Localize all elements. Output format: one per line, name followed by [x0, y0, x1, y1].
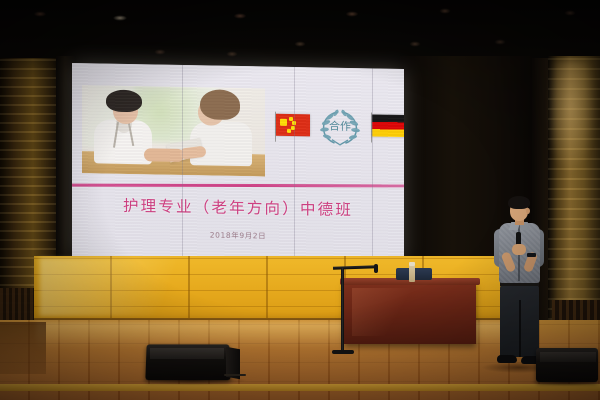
- photo-elder-hair: [200, 89, 240, 120]
- flag-germany-icon: [372, 114, 404, 137]
- water-bottle-cap: [409, 262, 415, 266]
- laurel-wreath-icon: 合作: [316, 105, 364, 148]
- screen-seam-3: [372, 68, 373, 262]
- presenter-ear: [526, 208, 530, 214]
- floor-shadow-left: [0, 322, 46, 374]
- screen-seam-2: [294, 67, 295, 261]
- presenter-shoe-left: [497, 355, 517, 363]
- microphone-stand-base: [332, 350, 354, 354]
- floor-front-strip: [0, 384, 600, 391]
- water-bottle: [409, 265, 415, 282]
- screen-seam-1: [182, 65, 183, 259]
- stage-monitor-left-grille: [150, 348, 224, 359]
- right-wall-light-glow: [550, 62, 596, 172]
- flag-china-icon: [276, 114, 310, 137]
- microphone-stand-pole: [341, 268, 344, 352]
- lectern-highlight: [352, 288, 412, 336]
- photo-caregiver-hands: [144, 148, 184, 162]
- photo-caregiver-hair: [106, 90, 142, 113]
- presenter-wristwatch: [527, 253, 536, 257]
- backwall-highlight: [40, 258, 220, 316]
- cooperation-emblem: 合作: [316, 105, 364, 148]
- boom-microphone-head: [374, 264, 378, 273]
- presentation-slide: 合作 护理专业（老年方向）中德班 2018年9月2日: [72, 63, 404, 263]
- auditorium-scene: 合作 护理专业（老年方向）中德班 2018年9月2日: [0, 0, 600, 400]
- presenter-hands: [512, 244, 526, 255]
- stage-monitor-left-cable: [224, 374, 246, 376]
- stage-monitor-right-grille: [540, 352, 596, 362]
- emblem-text: 合作: [329, 119, 351, 133]
- slide-date: 2018年9月2日: [72, 227, 404, 244]
- projection-screen: 合作 护理专业（老年方向）中德班 2018年9月2日: [72, 63, 404, 263]
- presenter-leg-seam: [519, 300, 521, 357]
- nursing-care-photo: [82, 85, 265, 176]
- presenter-hair: [508, 196, 530, 209]
- slide-divider-rule: [72, 184, 404, 188]
- slide-title: 护理专业（老年方向）中德班: [72, 193, 404, 221]
- presenter: [486, 196, 552, 372]
